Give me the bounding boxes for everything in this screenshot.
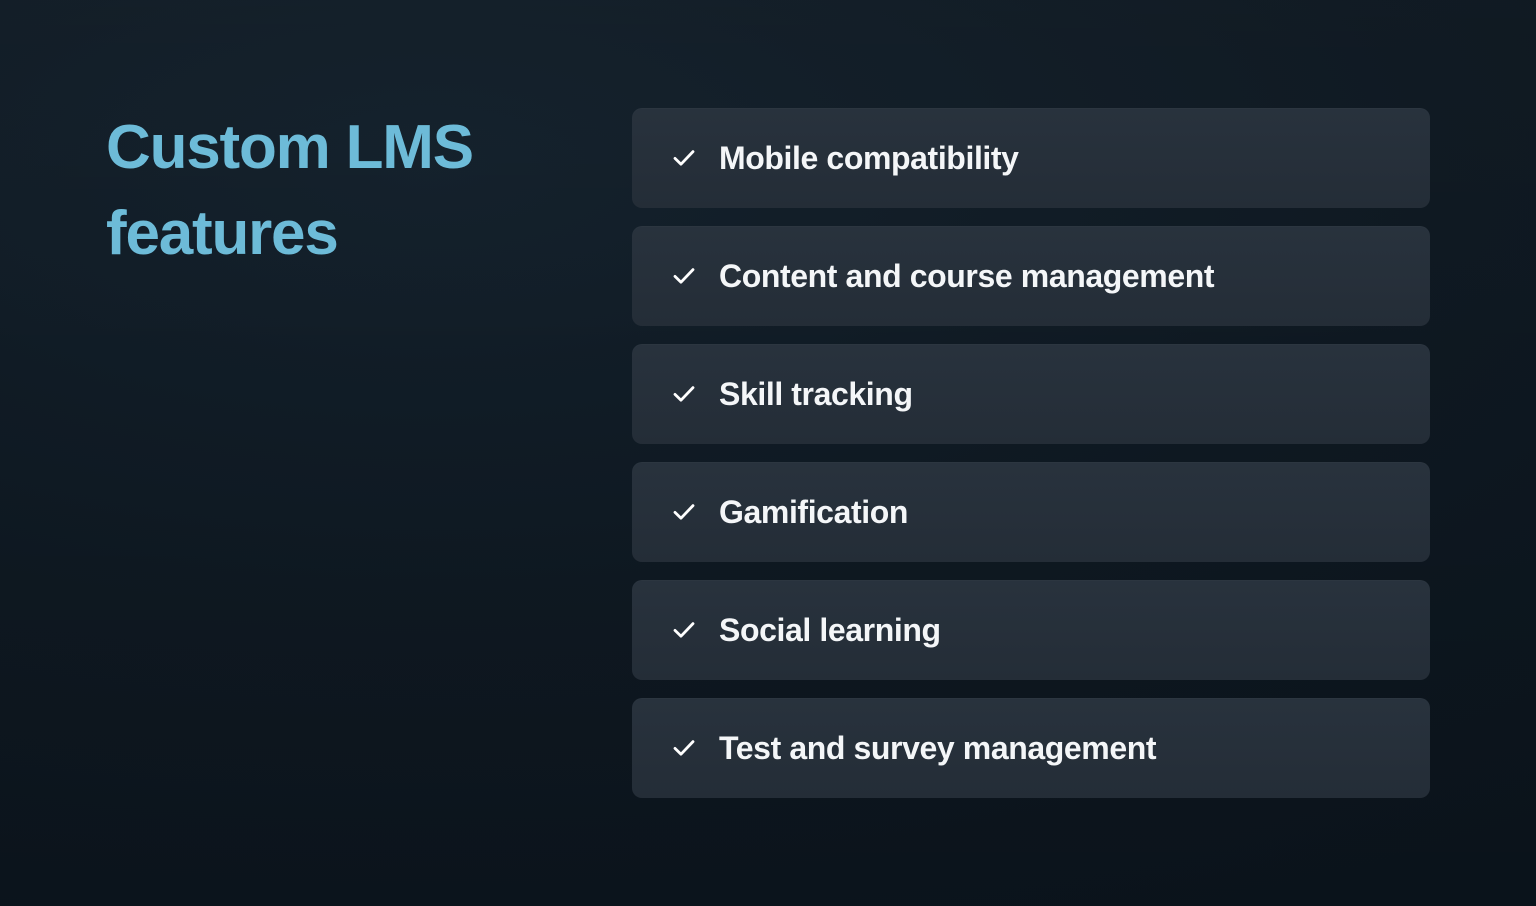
feature-label: Test and survey management [719,732,1156,764]
check-icon [671,499,697,525]
check-icon [671,263,697,289]
feature-card-1[interactable]: Mobile compatibility [632,108,1430,208]
heading-column: Custom LMS features [0,0,632,276]
feature-label: Social learning [719,614,941,646]
slide-root: Custom LMS features Mobile compatibility… [0,0,1536,906]
check-icon [671,735,697,761]
feature-card-4[interactable]: Gamification [632,462,1430,562]
feature-card-2[interactable]: Content and course management [632,226,1430,326]
feature-label: Content and course management [719,260,1214,292]
check-icon [671,145,697,171]
feature-label: Skill tracking [719,378,913,410]
check-icon [671,381,697,407]
feature-card-6[interactable]: Test and survey management [632,698,1430,798]
check-icon [671,617,697,643]
feature-card-3[interactable]: Skill tracking [632,344,1430,444]
feature-label: Gamification [719,496,908,528]
feature-card-5[interactable]: Social learning [632,580,1430,680]
feature-label: Mobile compatibility [719,142,1019,174]
slide-content: Custom LMS features Mobile compatibility… [0,0,1536,906]
feature-list: Mobile compatibility Content and course … [632,0,1536,798]
page-title: Custom LMS features [106,105,546,276]
